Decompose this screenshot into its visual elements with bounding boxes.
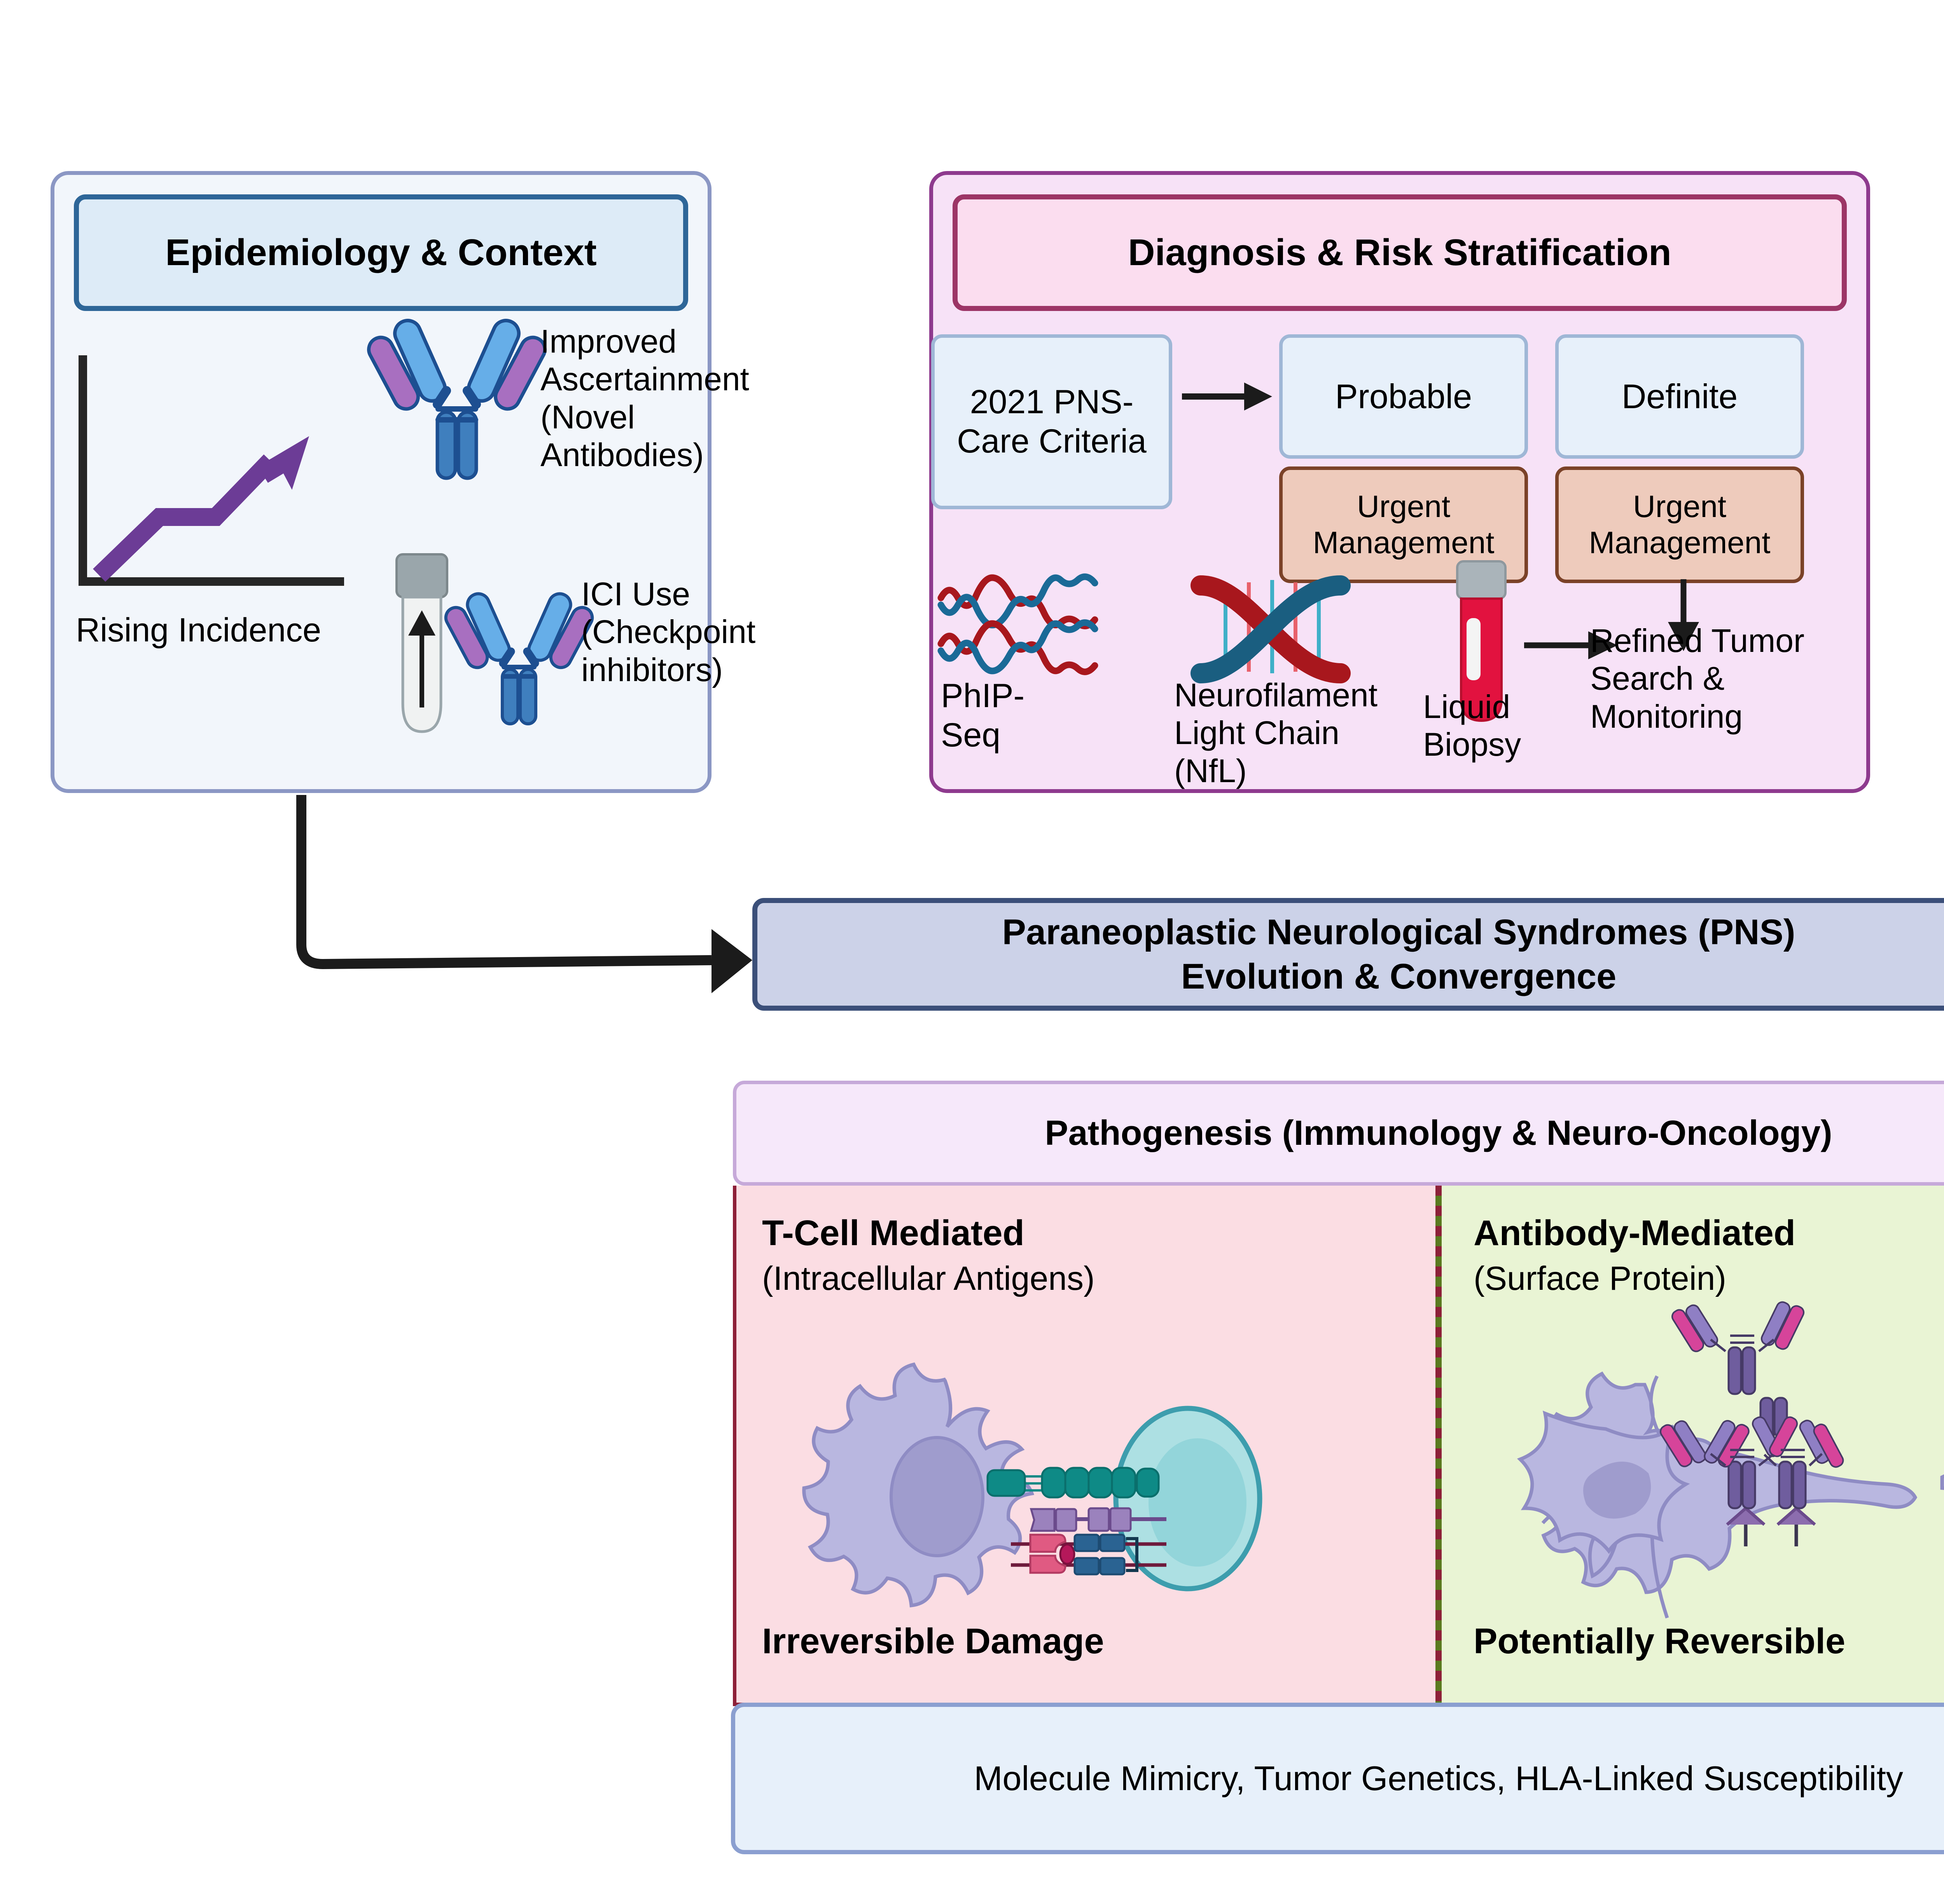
central-bar-line1: Paraneoplastic Neurological Syndromes (P… bbox=[1002, 910, 1795, 954]
diagram-canvas: Epidemiology & Context Rising Incidence … bbox=[0, 0, 1944, 1904]
connector-epi-to-center bbox=[301, 795, 712, 964]
t-cell-attacking-neuron-icon bbox=[793, 1368, 1295, 1617]
antibody-icon bbox=[379, 307, 535, 486]
refined-tumor-search-label: Refined Tumor Search & Monitoring bbox=[1590, 622, 1823, 735]
ici-use-label: ICI Use (Checkpoint inhibitors) bbox=[581, 575, 729, 689]
test-tube-icon bbox=[389, 552, 455, 735]
potentially-reversible-label: Potentially Reversible bbox=[1474, 1621, 1944, 1662]
pns-care-criteria-box[interactable]: 2021 PNS-Care Criteria bbox=[931, 334, 1172, 509]
pathogenesis-title: Pathogenesis (Immunology & Neuro-Oncolog… bbox=[733, 1081, 1944, 1186]
phip-seq-label: PhIP-Seq bbox=[941, 676, 1065, 755]
antibody-binding-neuron-icon bbox=[1528, 1294, 1944, 1633]
rising-trend-arrow-icon bbox=[76, 350, 348, 599]
panel-diagnosis-title: Diagnosis & Risk Stratification bbox=[953, 194, 1847, 311]
t-cell-mediated-heading: T-Cell Mediated bbox=[762, 1213, 1384, 1254]
central-convergence-bar: Paraneoplastic Neurological Syndromes (P… bbox=[752, 898, 1944, 1011]
phage-display-strands-icon bbox=[939, 568, 1164, 680]
arrow-criteria-to-probable bbox=[1182, 373, 1275, 420]
arrowhead-epi bbox=[712, 929, 752, 993]
antibody-mediated-subtitle: (Surface Protein) bbox=[1474, 1259, 1944, 1298]
definite-box[interactable]: Definite bbox=[1555, 334, 1804, 459]
antibody-icon bbox=[455, 583, 583, 731]
liquid-biopsy-label: Liquid Biopsy bbox=[1423, 688, 1551, 764]
pathogenesis-caption: Molecule Mimicry, Tumor Genetics, HLA-Li… bbox=[731, 1703, 1944, 1854]
t-cell-mediated-subtitle: (Intracellular Antigens) bbox=[762, 1259, 1384, 1298]
antibody-mediated-heading: Antibody-Mediated bbox=[1474, 1213, 1944, 1254]
rising-incidence-label: Rising Incidence bbox=[76, 610, 325, 650]
urgent-management-definite-box[interactable]: Urgent Management bbox=[1555, 466, 1804, 583]
improved-ascertainment-label: Improved Ascertainment (Novel Antibodies… bbox=[540, 323, 712, 474]
pathogenesis-divider bbox=[1435, 1186, 1442, 1703]
probable-box[interactable]: Probable bbox=[1279, 334, 1528, 459]
nfl-label: Neurofilament Light Chain (NfL) bbox=[1174, 676, 1392, 790]
dna-helix-icon bbox=[1190, 571, 1353, 688]
panel-epidemiology-title: Epidemiology & Context bbox=[74, 194, 688, 311]
irreversible-damage-label: Irreversible Damage bbox=[762, 1621, 1400, 1662]
central-bar-line2: Evolution & Convergence bbox=[1002, 954, 1795, 999]
